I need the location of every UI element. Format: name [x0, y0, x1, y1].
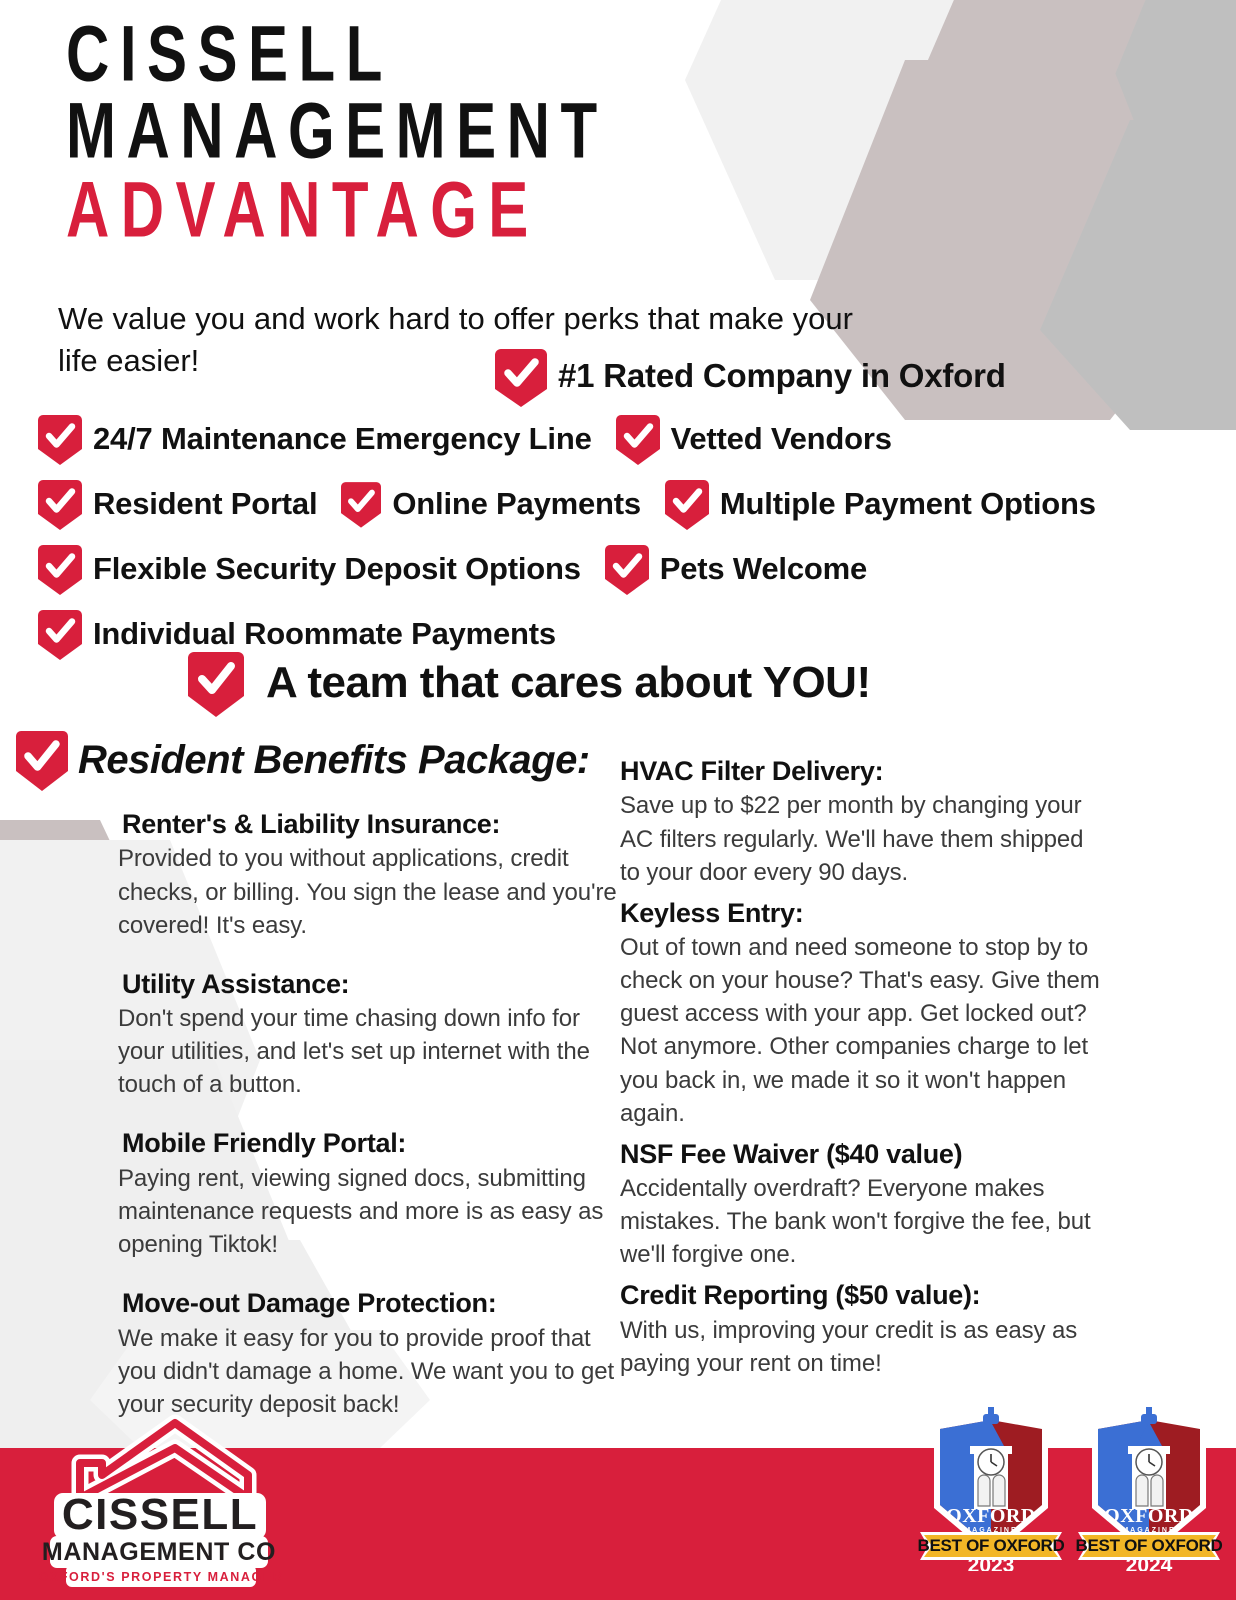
benefits-column-right: HVAC Filter Delivery: Save up to $22 per…	[620, 755, 1100, 1388]
svg-text:MANAGEMENT CO: MANAGEMENT CO	[42, 1538, 276, 1566]
header: CISSELL MANAGEMENT ADVANTAGE	[0, 0, 1236, 229]
cissell-logo: CISSELL MANAGEMENT CO OXFORD'S PROPERTY …	[30, 1393, 330, 1593]
house-roof-icon	[80, 1423, 248, 1498]
rated-company-label: #1 Rated Company in Oxford	[558, 357, 1006, 395]
checklist-item-label: Individual Roommate Payments	[93, 616, 556, 652]
benefit-block: Credit Reporting ($50 value): With us, i…	[620, 1279, 1100, 1380]
brand-line-1: CISSELL	[66, 16, 1236, 91]
benefit-body: With us, improving your credit is as eas…	[620, 1314, 1100, 1380]
benefit-title: Keyless Entry:	[620, 897, 1100, 929]
checklist-item-label: Vetted Vendors	[671, 421, 892, 457]
checklist-row: 24/7 Maintenance Emergency Line Vetted V…	[38, 412, 1228, 466]
benefit-title: Utility Assistance:	[122, 968, 618, 1000]
checklist-item-label: Online Payments	[392, 486, 641, 522]
brand-line-3: ADVANTAGE	[66, 172, 1236, 247]
brand-title: CISSELL MANAGEMENT ADVANTAGE	[0, 0, 1236, 229]
check-shield-icon	[341, 479, 381, 529]
check-shield-icon	[16, 728, 68, 792]
check-shield-icon	[188, 648, 244, 718]
footer-bar: CISSELL MANAGEMENT CO OXFORD'S PROPERTY …	[0, 1448, 1236, 1600]
check-shield-icon	[495, 345, 547, 407]
benefit-block: Mobile Friendly Portal: Paying rent, vie…	[118, 1127, 618, 1261]
checklist-item: Vetted Vendors	[616, 412, 892, 466]
award-year: 2023	[968, 1554, 1015, 1571]
benefit-body: Provided to you without applications, cr…	[118, 842, 618, 941]
rated-company-row: #1 Rated Company in Oxford	[495, 345, 1006, 407]
benefit-title: NSF Fee Waiver ($40 value)	[620, 1138, 1100, 1170]
best-of-oxford-badge-2023: OXFORD MAGAZINE BEST OF OXFORD 2023	[916, 1396, 1066, 1571]
benefit-block: Utility Assistance: Don't spend your tim…	[118, 968, 618, 1102]
benefit-block: NSF Fee Waiver ($40 value) Accidentally …	[620, 1138, 1100, 1272]
benefit-title: Move-out Damage Protection:	[122, 1287, 618, 1319]
check-shield-icon	[616, 412, 660, 466]
checklist-item: 24/7 Maintenance Emergency Line	[38, 412, 592, 466]
checklist-item: Pets Welcome	[605, 542, 867, 596]
team-cares-row: A team that cares about YOU!	[188, 648, 871, 718]
check-shield-icon	[38, 542, 82, 596]
checklist-item-label: Multiple Payment Options	[720, 486, 1096, 522]
checklist-item-label: 24/7 Maintenance Emergency Line	[93, 421, 592, 457]
checklist-item-label: Flexible Security Deposit Options	[93, 551, 581, 587]
team-cares-label: A team that cares about YOU!	[266, 658, 871, 708]
award-year: 2024	[1126, 1554, 1173, 1571]
checklist-item: Resident Portal	[38, 477, 317, 531]
benefit-title: Mobile Friendly Portal:	[122, 1127, 618, 1159]
benefit-block: Renter's & Liability Insurance: Provided…	[118, 808, 618, 942]
checklist-row: Flexible Security Deposit Options Pets W…	[38, 542, 1228, 596]
svg-text:BEST OF OXFORD: BEST OF OXFORD	[918, 1536, 1065, 1555]
benefit-body: Accidentally overdraft? Everyone makes m…	[620, 1172, 1100, 1271]
award-badges: OXFORD MAGAZINE BEST OF OXFORD 2023	[916, 1396, 1224, 1571]
checklist-item: Online Payments	[341, 479, 641, 529]
check-shield-icon	[38, 412, 82, 466]
svg-text:OXFORD: OXFORD	[946, 1505, 1036, 1527]
benefit-body: Save up to $22 per month by changing you…	[620, 789, 1100, 888]
svg-text:BEST OF OXFORD: BEST OF OXFORD	[1076, 1536, 1223, 1555]
benefit-body: Out of town and need someone to stop by …	[620, 931, 1100, 1130]
checklist-item-label: Pets Welcome	[660, 551, 867, 587]
svg-text:OXFORD: OXFORD	[1104, 1505, 1194, 1527]
checklist-item-label: Resident Portal	[93, 486, 317, 522]
check-shield-icon	[38, 477, 82, 531]
check-shield-icon	[665, 477, 709, 531]
benefit-title: Credit Reporting ($50 value):	[620, 1279, 1100, 1311]
resident-benefits-heading-label: Resident Benefits Package:	[78, 738, 590, 783]
benefit-title: Renter's & Liability Insurance:	[122, 808, 618, 840]
brand-line-2: MANAGEMENT	[66, 93, 1236, 168]
benefit-block: HVAC Filter Delivery: Save up to $22 per…	[620, 755, 1100, 889]
check-shield-icon	[605, 542, 649, 596]
perks-checklist: 24/7 Maintenance Emergency Line Vetted V…	[38, 412, 1228, 672]
svg-text:CISSELL: CISSELL	[62, 1490, 258, 1539]
benefits-column-left: Renter's & Liability Insurance: Provided…	[118, 808, 618, 1447]
benefit-body: Paying rent, viewing signed docs, submit…	[118, 1162, 618, 1261]
benefit-body: Don't spend your time chasing down info …	[118, 1002, 618, 1101]
best-of-oxford-badge-2024: OXFORD MAGAZINE BEST OF OXFORD 2024	[1074, 1396, 1224, 1571]
checklist-item: Flexible Security Deposit Options	[38, 542, 581, 596]
benefit-title: HVAC Filter Delivery:	[620, 755, 1100, 787]
benefit-block: Keyless Entry: Out of town and need some…	[620, 897, 1100, 1130]
check-shield-icon	[38, 607, 82, 661]
resident-benefits-heading-row: Resident Benefits Package:	[16, 728, 590, 792]
checklist-row: Resident Portal Online Payments Multiple…	[38, 477, 1228, 531]
svg-text:OXFORD'S PROPERTY MANAGER: OXFORD'S PROPERTY MANAGER	[39, 1570, 284, 1584]
checklist-item: Multiple Payment Options	[665, 477, 1096, 531]
